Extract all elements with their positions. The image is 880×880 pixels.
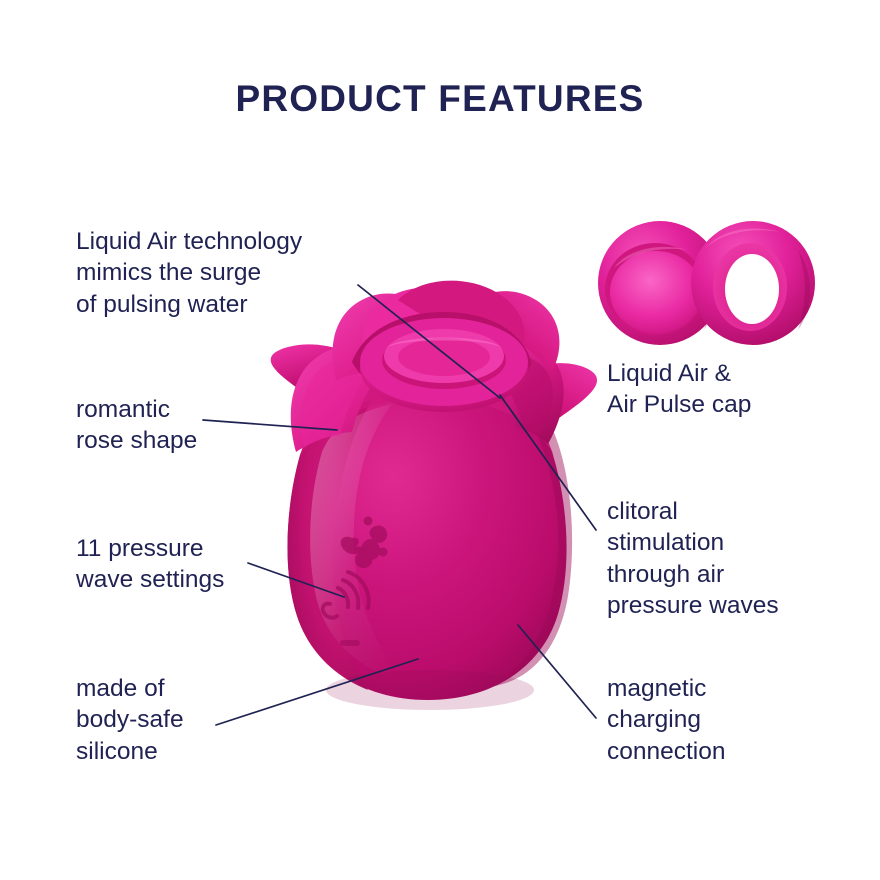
callout-body-safe-silicone: made of body-safe silicone xyxy=(76,673,316,767)
callout-clitoral-stimulation: clitoral stimulation through air pressur… xyxy=(607,496,857,621)
callout-rose-shape: romantic rose shape xyxy=(76,394,336,457)
air-pulse-cap xyxy=(691,221,815,345)
callout-liquid-air: Liquid Air technology mimics the surge o… xyxy=(76,226,376,320)
callout-pressure-settings: 11 pressure wave settings xyxy=(76,533,336,596)
callout-magnetic-charging: magnetic charging connection xyxy=(607,673,857,767)
infographic-canvas: PRODUCT FEATURES xyxy=(0,0,880,880)
callout-cap-label: Liquid Air & Air Pulse cap xyxy=(607,358,857,421)
